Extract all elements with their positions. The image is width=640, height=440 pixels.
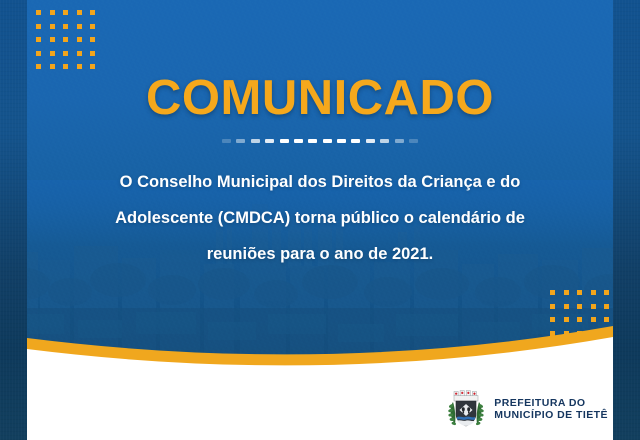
page-title: COMUNICADO [0,74,640,123]
logo-line-1: PREFEITURA DO [494,397,608,410]
body-line-1: O Conselho Municipal dos Direitos da Cri… [70,164,570,200]
mural-crown [454,391,478,401]
right-edge-strip [613,0,640,440]
dashed-divider [222,139,418,143]
coat-of-arms-icon [447,388,485,430]
comunicado-poster: COMUNICADO O Conselho Municipal dos Dire… [0,0,640,440]
logo-wordmark: PREFEITURA DO MUNICÍPIO DE TIETÊ [494,397,608,422]
prefeitura-logo: PREFEITURA DO MUNICÍPIO DE TIETÊ [447,388,608,430]
logo-line-2: MUNICÍPIO DE TIETÊ [494,409,608,422]
shield [456,401,476,426]
body-line-3: reuniões para o ano de 2021. [70,236,570,272]
body-line-2: Adolescente (CMDCA) torna público o cale… [70,200,570,236]
left-edge-strip [0,0,27,440]
announcement-body: O Conselho Municipal dos Direitos da Cri… [70,164,570,272]
